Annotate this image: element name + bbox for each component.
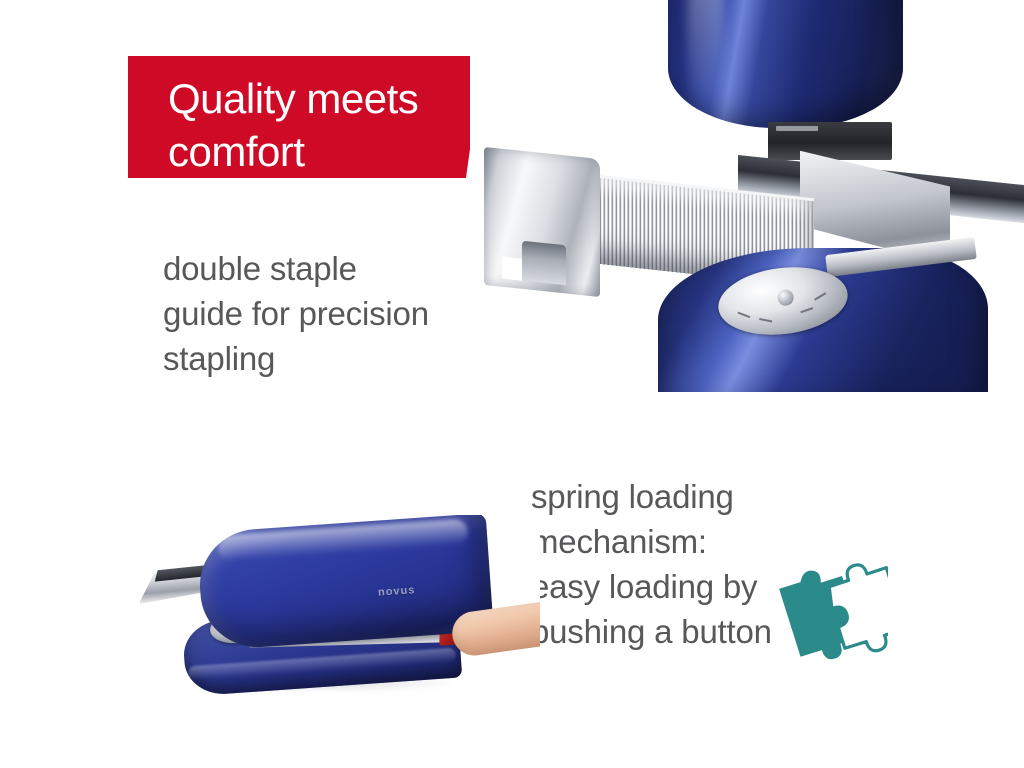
headline-banner: Quality meets comfort xyxy=(128,56,483,178)
stapler-head-blue xyxy=(668,0,903,128)
headline-text: Quality meets comfort xyxy=(168,72,478,178)
guide-cap-notch xyxy=(522,241,566,286)
staple-driver-block xyxy=(768,122,892,160)
product-feature-slide: Quality meets comfort double staple guid… xyxy=(0,0,1024,768)
photo-stapler: novus xyxy=(140,515,540,705)
feature-caption-double-staple-guide: double staple guide for precision stapli… xyxy=(163,246,493,381)
puzzle-pieces-logo xyxy=(752,558,888,662)
photo-staple-guide xyxy=(470,0,1024,392)
